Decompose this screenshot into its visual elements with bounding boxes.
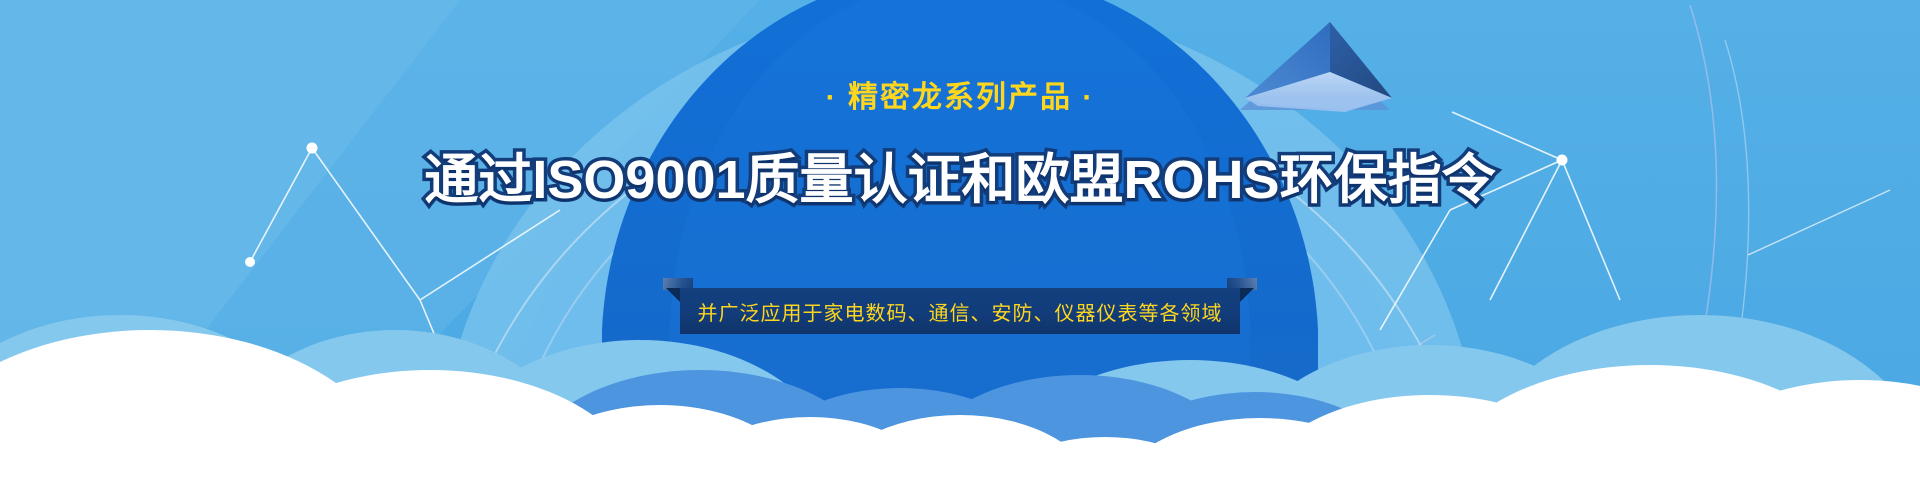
promo-banner: · 精密龙系列产品 · 通过ISO9001质量认证和欧盟ROHS环保指令 并广泛… [0, 0, 1920, 480]
cloud-layer [0, 0, 1920, 480]
cloud-base-fill [0, 452, 1920, 480]
